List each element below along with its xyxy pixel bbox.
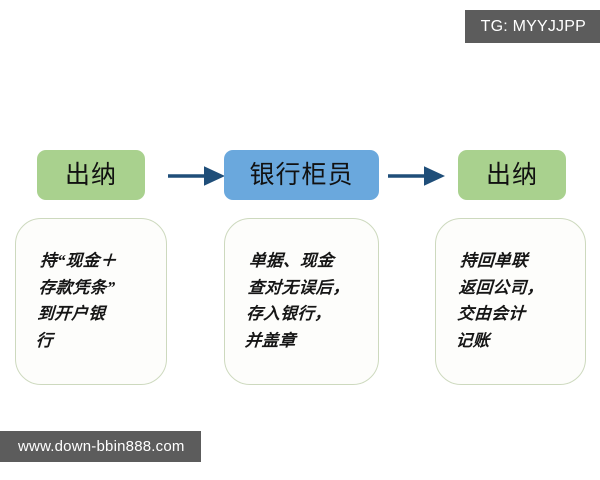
description-box-step-2: 单据、现金 查对无误后， 存入银行， 并盖章 — [224, 218, 379, 385]
description-text: 单据、现金 查对无误后， 存入银行， 并盖章 — [244, 248, 352, 355]
description-box-step-3: 持回单联 返回公司， 交由会计 记账 — [435, 218, 586, 385]
description-text: 持“现金＋ 存款凭条” 到开户银 行 — [35, 248, 117, 355]
role-box-cashier-end[interactable]: 出纳 — [458, 150, 566, 200]
description-text: 持回单联 返回公司， 交由会计 记账 — [455, 248, 546, 355]
role-label: 银行柜员 — [249, 163, 353, 188]
watermark-top-right: TG: MYYJJPP — [465, 10, 600, 43]
description-box-step-1: 持“现金＋ 存款凭条” 到开户银 行 — [15, 218, 167, 385]
arrow-right-icon-1 — [168, 163, 226, 189]
diagram-canvas: TG: MYYJJPP 出纳 持“现金＋ 存款凭条” 到开户银 行 银行柜员 单… — [0, 0, 600, 480]
arrow-right-icon-2 — [388, 163, 446, 189]
role-label: 出纳 — [486, 163, 538, 188]
role-box-cashier-start[interactable]: 出纳 — [37, 150, 145, 200]
role-label: 出纳 — [65, 163, 117, 188]
watermark-bottom-left: www.down-bbin888.com — [0, 431, 201, 462]
watermark-bottom-left-text: www.down-bbin888.com — [18, 438, 185, 455]
watermark-top-right-text: TG: MYYJJPP — [481, 18, 586, 36]
role-box-bank-teller[interactable]: 银行柜员 — [224, 150, 379, 200]
